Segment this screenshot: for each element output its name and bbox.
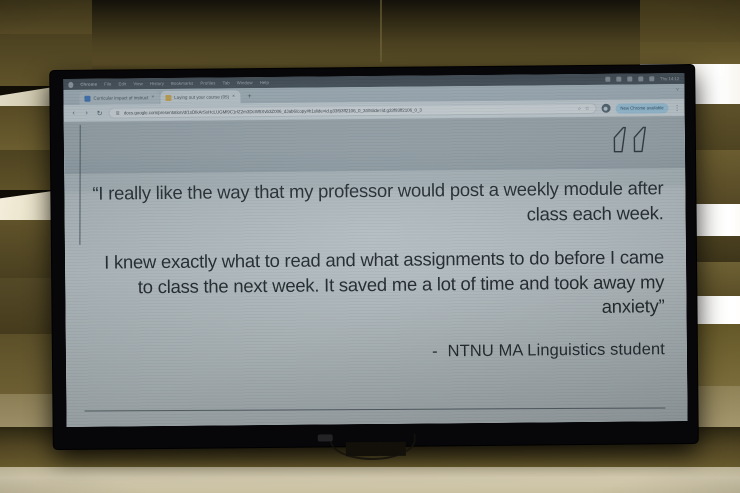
new-tab-button[interactable]: + (244, 91, 255, 102)
yellow-slides-favicon (165, 94, 171, 100)
battery-icon[interactable] (605, 77, 610, 82)
menubar-item-window[interactable]: Window (237, 80, 253, 85)
screen-content: Chrome File Edit View History Bookmarks … (63, 73, 687, 427)
back-button[interactable]: ‹ (70, 110, 78, 117)
control-center-icon[interactable] (638, 76, 643, 81)
menubar-clock[interactable]: Thu 14:12 (660, 76, 679, 81)
search-icon[interactable] (649, 76, 654, 81)
quote-glyph-left (612, 127, 627, 157)
browser-tab-1-title: Curricular impact of instruct (93, 95, 148, 101)
zoom-icon[interactable]: ⌕ (578, 106, 581, 112)
quote-paragraph-2: I knew exactly what to read and what ass… (91, 245, 665, 324)
profile-avatar-icon[interactable] (601, 104, 610, 113)
quote-attribution: -NTNU MA Linguistics student (92, 340, 665, 364)
tune-icon[interactable]: ≣ (116, 110, 120, 116)
quote-glyph-right (632, 126, 647, 156)
display-sensor (318, 434, 333, 441)
presentation-slide[interactable]: “I really like the way that my professor… (64, 116, 688, 427)
display-bezel-inner: Chrome File Edit View History Bookmarks … (63, 73, 687, 427)
double-quote-mark-icon (612, 126, 647, 156)
browser-tab-2-title: Laying out your course (05) (174, 94, 229, 100)
menubar-item-bookmarks[interactable]: Bookmarks (171, 81, 193, 86)
floor-shelf (0, 467, 740, 493)
menubar-item-file[interactable]: File (104, 82, 111, 87)
menubar-spacer (276, 79, 598, 82)
menubar-item-history[interactable]: History (150, 81, 164, 86)
slide-vertical-accent-line (79, 125, 81, 245)
apple-icon[interactable] (68, 81, 73, 87)
address-bar[interactable]: ≣ docs.google.com/presentation/d/1sDIkAr… (109, 103, 597, 119)
menubar-status-area: Thu 14:12 (605, 76, 679, 82)
slide-viewport: “I really like the way that my professor… (64, 116, 688, 427)
menubar-item-view[interactable]: View (133, 81, 143, 86)
chrome-update-button[interactable]: New Chrome available (615, 103, 668, 114)
quote-paragraph-1: “I really like the way that my professor… (90, 176, 663, 231)
attribution-text: NTNU MA Linguistics student (448, 340, 665, 360)
slide-bottom-rule (84, 407, 665, 411)
slide-top-band (64, 116, 685, 174)
close-icon[interactable]: × (151, 95, 154, 100)
chevron-down-icon[interactable]: ˅ (674, 87, 680, 93)
forward-button[interactable]: › (83, 110, 91, 117)
slide-text-block: “I really like the way that my professor… (90, 176, 665, 364)
browser-tab-1[interactable]: Curricular impact of instruct × (79, 91, 159, 105)
wall-mounted-display: Chrome File Edit View History Bookmarks … (50, 65, 698, 449)
menubar-item-help[interactable]: Help (260, 80, 269, 85)
star-icon[interactable]: ☆ (585, 105, 590, 111)
menubar-item-tab[interactable]: Tab (223, 80, 230, 85)
menubar-item-edit[interactable]: Edit (118, 81, 126, 86)
blue-doc-favicon (84, 95, 90, 101)
reload-button[interactable]: ↻ (96, 109, 104, 117)
browser-tab-2[interactable]: Laying out your course (05) × (160, 90, 240, 104)
address-bar-url: docs.google.com/presentation/d/1sDIkArSx… (124, 106, 574, 115)
kebab-menu-icon[interactable]: ⋮ (674, 104, 679, 112)
attribution-dash: - (432, 342, 438, 360)
wifi-icon[interactable] (616, 77, 621, 82)
menubar-item-chrome[interactable]: Chrome (80, 82, 97, 87)
close-icon[interactable]: × (232, 94, 235, 99)
menubar-item-profiles[interactable]: Profiles (200, 81, 215, 86)
bluetooth-icon[interactable] (627, 77, 632, 82)
